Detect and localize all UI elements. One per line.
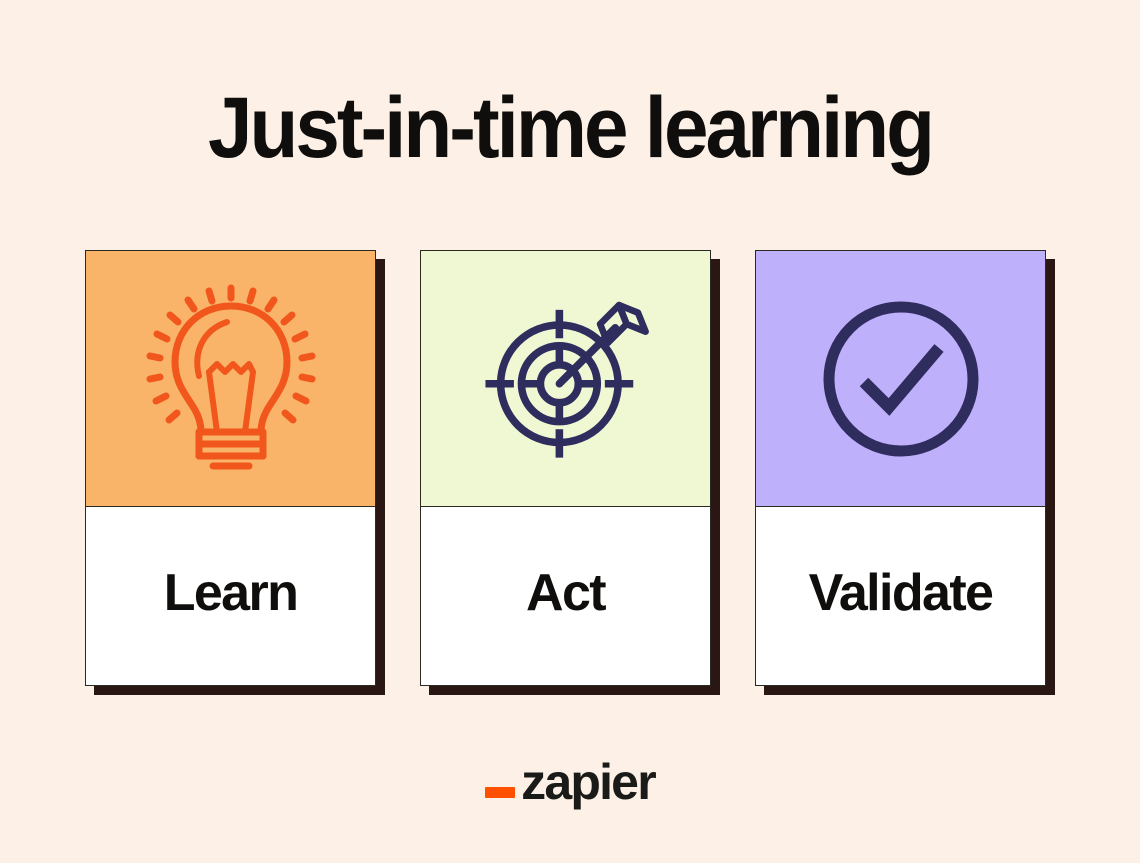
page-title: Just-in-time learning: [40, 80, 1100, 176]
card-label-area: Validate: [756, 507, 1045, 685]
card-header-validate: [756, 251, 1045, 507]
card-label: Learn: [164, 565, 298, 621]
check-circle-icon: [811, 284, 991, 474]
card-learn[interactable]: Learn: [85, 250, 376, 686]
card-label: Act: [526, 565, 605, 621]
infographic-canvas: Just-in-time learning: [0, 0, 1140, 863]
card-validate[interactable]: Validate: [755, 250, 1046, 686]
card-header-learn: [86, 251, 375, 507]
zapier-wordmark: zapier: [521, 756, 655, 808]
card-row: Learn: [85, 250, 1053, 694]
zapier-underscore-icon: [485, 787, 515, 798]
target-arrow-icon: [476, 284, 656, 474]
card-label-area: Learn: [86, 507, 375, 685]
card-header-act: [421, 251, 710, 507]
card-body[interactable]: Act: [420, 250, 711, 686]
lightbulb-icon: [141, 284, 321, 474]
card-label-area: Act: [421, 507, 710, 685]
card-act[interactable]: Act: [420, 250, 711, 686]
card-body[interactable]: Validate: [755, 250, 1046, 686]
zapier-logo: zapier: [0, 756, 1140, 808]
card-label: Validate: [809, 565, 993, 621]
card-body[interactable]: Learn: [85, 250, 376, 686]
